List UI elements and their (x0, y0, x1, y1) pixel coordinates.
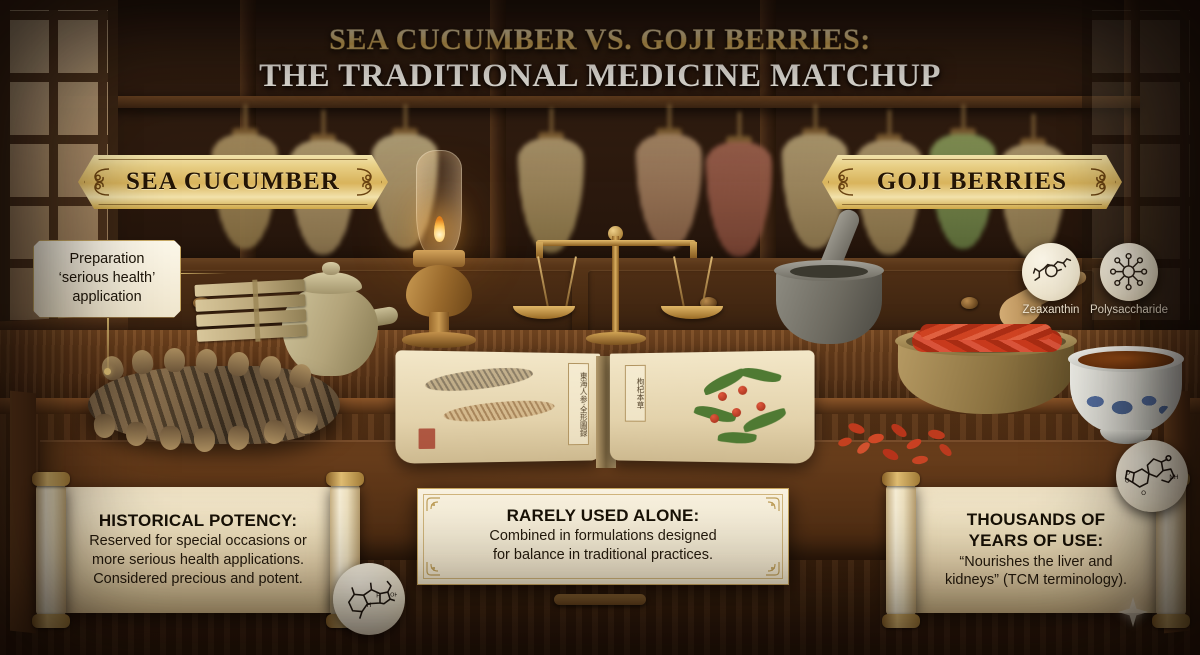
callout-line-3: application (42, 288, 172, 307)
molecule-radial-icon (1106, 249, 1151, 294)
book-calligraphy-right: 枸杞本草 (625, 365, 646, 422)
molecule-steroid-icon: H H OH (341, 571, 397, 627)
infographic-canvas: 東海人参·全形圖録 枸杞本草 (0, 0, 1200, 655)
corner-ornament-icon (761, 497, 780, 516)
svg-text:NH: NH (1169, 474, 1179, 481)
callout-line-1: Preparation (42, 250, 172, 269)
scroll-right-heading-line-1: THOUSANDS OF (967, 510, 1105, 529)
title-block: SEA CUCUMBER VS. GOJI BERRIES: THE TRADI… (0, 24, 1200, 94)
scrollwork-ornament-icon (831, 165, 861, 199)
plaque-center-heading: RARELY USED ALONE: (440, 506, 766, 525)
banner-goji-berries-label: GOJI BERRIES (877, 168, 1067, 196)
svg-text:H: H (376, 592, 381, 599)
book-calligraphy-left: 東海人参·全形圖録 (568, 363, 589, 445)
mortar-and-pestle (776, 236, 882, 346)
callout-leader-horizontal (181, 273, 227, 275)
scrollwork-ornament-icon (87, 165, 117, 199)
scroll-right-body-line-2: kidneys” (TCM terminology). (945, 571, 1127, 590)
banner-goji-berries[interactable]: GOJI BERRIES (822, 155, 1122, 209)
polysaccharide-label: Polysaccharide (1079, 304, 1179, 316)
scroll-rod-left (886, 481, 916, 619)
plaque-rarely-used-alone: RARELY USED ALONE: Combined in formulati… (417, 488, 789, 585)
scrollwork-ornament-icon (1083, 165, 1113, 199)
svg-text:O: O (1125, 469, 1130, 476)
balance-scale (520, 222, 710, 348)
alkaloid-molecule-badge: O O O NH (1116, 440, 1188, 512)
scroll-right-heading-line-2: YEARS OF USE: (969, 531, 1104, 550)
dried-sea-cucumber (88, 352, 340, 460)
zeaxanthin-molecule-badge: Zeaxanthin (1022, 243, 1080, 301)
svg-text:O: O (1125, 477, 1130, 484)
saponin-molecule-badge: H H OH (333, 563, 405, 635)
callout-leader-dot (104, 368, 111, 375)
table-leg-left (10, 391, 36, 634)
scroll-historical-potency: HISTORICAL POTENCY: Reserved for special… (36, 487, 360, 613)
svg-text:O: O (1141, 490, 1146, 497)
svg-text:H: H (367, 602, 372, 609)
sparkle-icon (1118, 597, 1148, 627)
book-page-left: 東海人参·全形圖録 (395, 350, 600, 464)
svg-text:OH: OH (390, 593, 397, 599)
corner-ornament-icon (426, 557, 445, 576)
scroll-rod-left (36, 481, 66, 619)
callout-line-2: ‘serious health’ (42, 269, 172, 288)
scroll-left-body-line-3: Considered precious and potent. (93, 570, 303, 589)
title-line-1: SEA CUCUMBER VS. GOJI BERRIES: (0, 24, 1200, 56)
banner-sea-cucumber-label: SEA CUCUMBER (126, 168, 340, 196)
title-line-2: THE TRADITIONAL MEDICINE MATCHUP (0, 58, 1200, 94)
scroll-left-body-line-2: more serious health applications. (92, 551, 304, 570)
drawer-handle (554, 594, 646, 605)
molecule-fused-ring-icon: O O O NH (1124, 448, 1180, 504)
bamboo-scroll-books (194, 279, 307, 347)
plaque-center-body-line-1: Combined in formulations designed (440, 527, 766, 546)
plaque-center-body-line-2: for balance in traditional practices. (440, 546, 766, 565)
banner-sea-cucumber[interactable]: SEA CUCUMBER (78, 155, 388, 209)
scroll-right-body-line-1: “Nourishes the liver and (959, 553, 1112, 572)
blue-white-tea-bowl (1070, 346, 1182, 452)
open-herbal-compendium: 東海人参·全形圖録 枸杞本草 (398, 352, 812, 468)
oil-lamp (396, 150, 482, 346)
molecule-chain-icon (1028, 249, 1073, 294)
corner-ornament-icon (426, 497, 445, 516)
scroll-left-body-line-1: Reserved for special occasions or (89, 532, 307, 551)
polysaccharide-molecule-badge: Polysaccharide (1100, 243, 1158, 301)
scroll-left-heading: HISTORICAL POTENCY: (99, 511, 297, 530)
callout-preparation: Preparation ‘serious health’ application (33, 240, 181, 318)
callout-leader-vertical (107, 318, 109, 370)
bowl-of-goji-berries (898, 318, 1074, 416)
corner-ornament-icon (761, 557, 780, 576)
scrollwork-ornament-icon (349, 165, 379, 199)
book-page-right: 枸杞本草 (610, 350, 815, 464)
